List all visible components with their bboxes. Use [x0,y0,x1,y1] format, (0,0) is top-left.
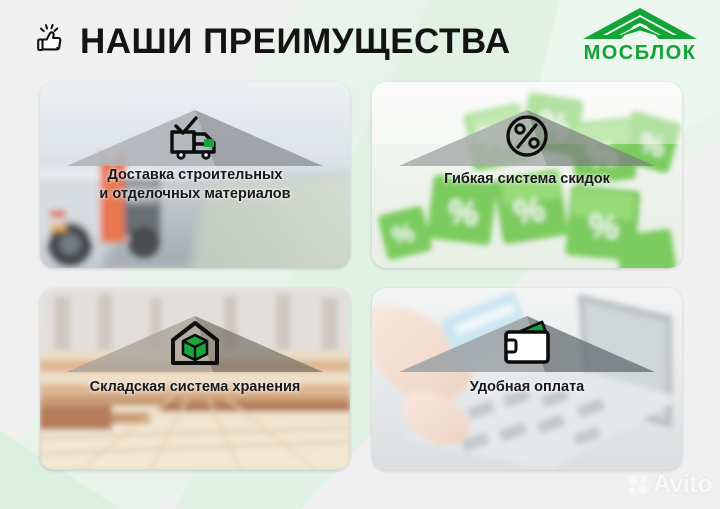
delivery-truck-check-icon [166,110,224,166]
advantage-label-discounts: Гибкая система скидок [372,170,682,189]
thumbs-up-glyph [34,22,70,58]
advantage-label-delivery-line1: Доставка строительных [50,166,340,185]
house-box-glyph [166,316,224,372]
advantage-card-delivery[interactable]: Доставка строительных и отделочных матер… [40,82,350,268]
advantage-label-delivery: Доставка строительных и отделочных матер… [40,166,350,204]
advantage-card-payment[interactable]: Удобная оплата [372,288,682,470]
wallet-glyph [498,316,556,372]
page-title: НАШИ ПРЕИМУЩЕСТВА [80,20,511,64]
avito-dots-icon [627,474,649,496]
percent-circle-glyph [498,110,556,166]
brand-name: МОСБЛОК [574,42,706,64]
card-overlay-discounts: Гибкая система скидок [372,82,682,268]
advantage-label-warehouse: Складская система хранения [40,378,350,397]
header: НАШИ ПРЕИМУЩЕСТВА МОСБЛОК [0,0,720,80]
wallet-icon [498,316,556,372]
percent-circle-icon [498,110,556,166]
thumbs-up-icon [34,22,70,58]
avito-watermark: Avito [627,472,712,497]
poster-canvas: НАШИ ПРЕИМУЩЕСТВА МОСБЛОК [0,0,720,509]
advantage-card-warehouse[interactable]: Складская система хранения [40,288,350,470]
card-overlay-warehouse: Складская система хранения [40,288,350,470]
brand-logo: МОСБЛОК [574,6,706,68]
advantage-label-delivery-line2: и отделочных материалов [50,185,340,204]
avito-wordmark: Avito [653,472,712,497]
delivery-truck-check-glyph [166,110,224,166]
roof-chevron-logo-icon [581,6,699,44]
advantage-card-discounts[interactable]: % % % % % % % % [372,82,682,268]
advantage-label-payment: Удобная оплата [372,378,682,397]
card-overlay-delivery: Доставка строительных и отделочных матер… [40,82,350,268]
card-overlay-payment: Удобная оплата [372,288,682,470]
house-box-storage-icon [166,316,224,372]
advantages-grid: Доставка строительных и отделочных матер… [40,82,682,470]
